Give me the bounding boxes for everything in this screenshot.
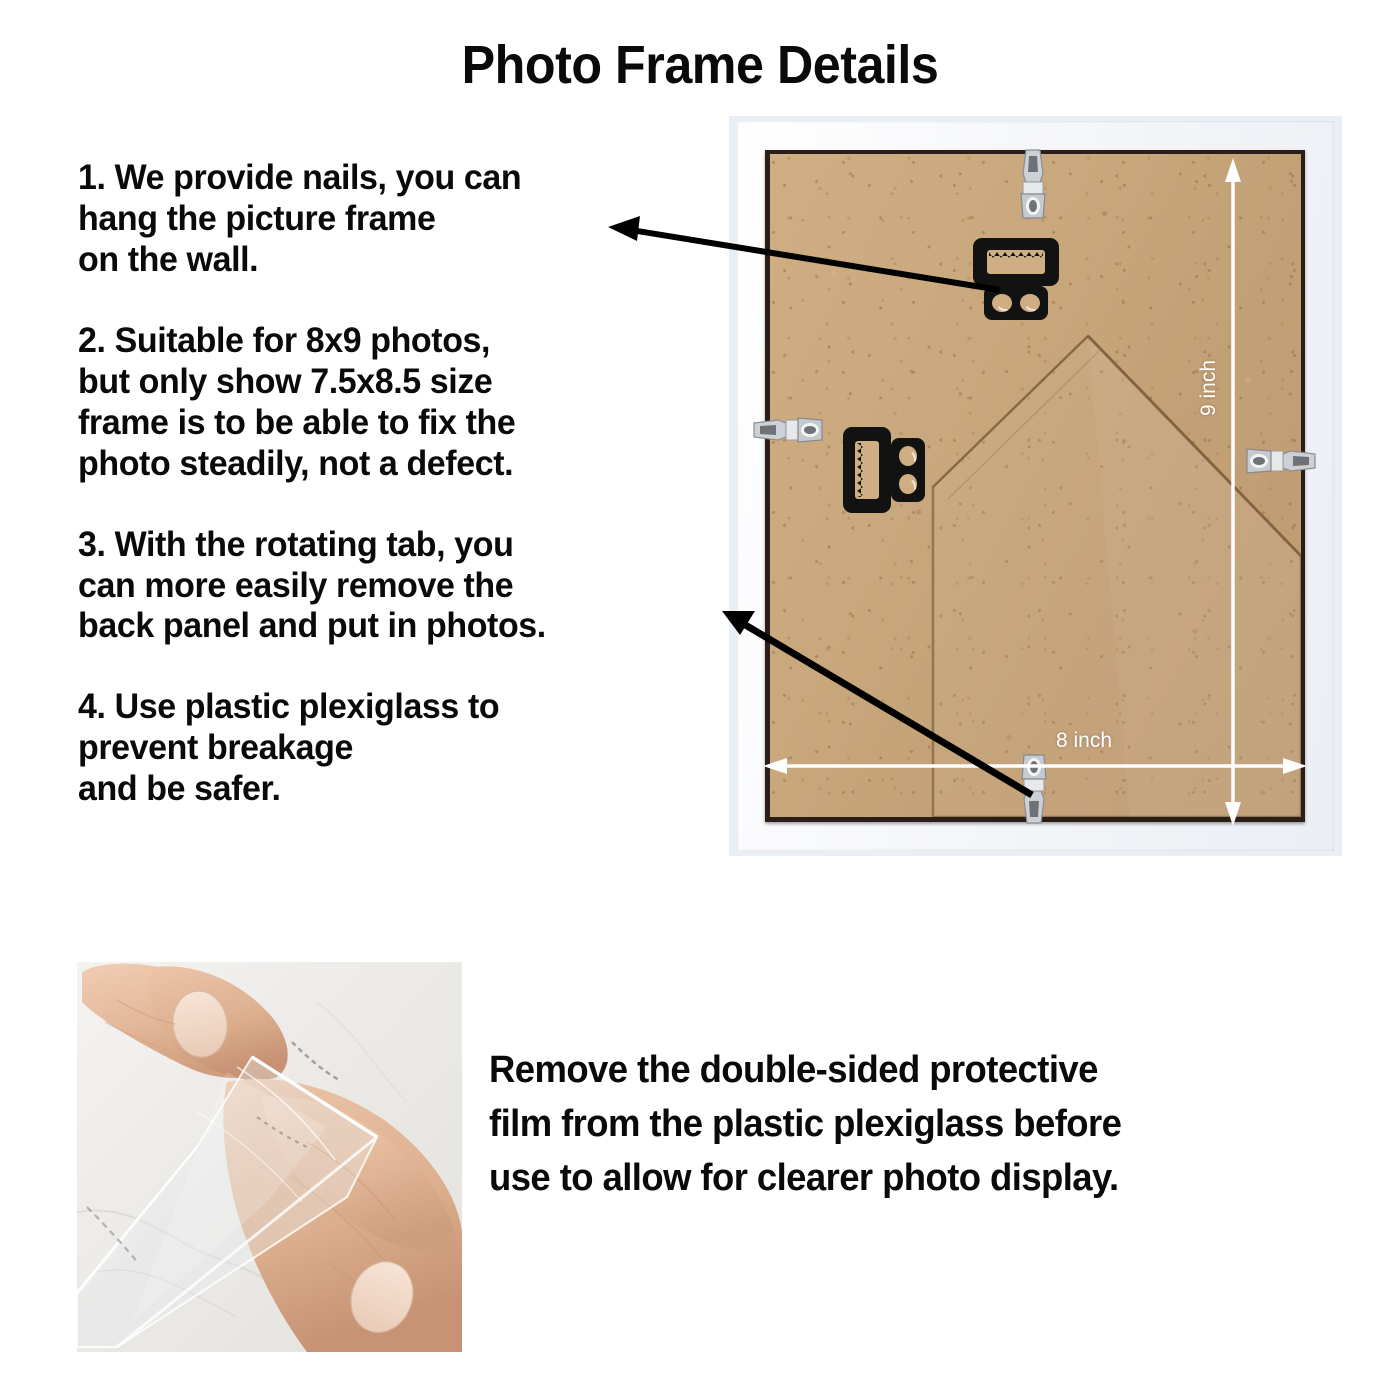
instruction-item-nails-hanging: 1. We provide nails, you can hang the pi… [78, 158, 728, 281]
instruction-line: 3. With the rotating tab, you [78, 525, 709, 566]
instruction-line: prevent breakage [78, 728, 709, 769]
instruction-line: 2. Suitable for 8x9 photos, [78, 321, 709, 362]
dimension-label-width: 8 inch [1056, 729, 1112, 753]
instruction-item-photo-size: 2. Suitable for 8x9 photos, but only sho… [78, 321, 728, 485]
instruction-line: hang the picture frame [78, 199, 709, 240]
instruction-item-rotating-tab: 3. With the rotating tab, you can more e… [78, 525, 728, 648]
instruction-line: can more easily remove the [78, 566, 709, 607]
turn-button-clip-left-icon [752, 413, 826, 447]
dimension-label-height: 9 inch [1197, 360, 1221, 416]
turn-button-clip-bottom-icon [1017, 751, 1051, 825]
instruction-list: 1. We provide nails, you can hang the pi… [78, 158, 728, 850]
page-title: Photo Frame Details [49, 34, 1351, 96]
turn-button-clip-right-icon [1243, 444, 1317, 478]
frame-back-photo: 9 inch 8 inch [729, 116, 1342, 856]
caption-line: use to allow for clearer photo display. [489, 1152, 1286, 1206]
instruction-line: 1. We provide nails, you can [78, 158, 709, 199]
plexiglass-film-photo [77, 962, 462, 1352]
instruction-line: but only show 7.5x8.5 size [78, 362, 709, 403]
instruction-line: photo steadily, not a defect. [78, 444, 709, 485]
turn-button-clip-top-icon [1016, 148, 1050, 222]
instruction-line: and be safer. [78, 769, 709, 810]
caption-line: film from the plastic plexiglass before [489, 1098, 1286, 1152]
rotating-tab-hanger-icon [841, 424, 927, 516]
instruction-line: on the wall. [78, 240, 709, 281]
sawtooth-hanger-icon [970, 236, 1062, 322]
instruction-item-plexiglass: 4. Use plastic plexiglass to prevent bre… [78, 687, 728, 810]
bottom-caption: Remove the double-sided protective film … [489, 1044, 1319, 1206]
instruction-line: frame is to be able to fix the [78, 403, 709, 444]
caption-line: Remove the double-sided protective [489, 1044, 1286, 1098]
instruction-line: back panel and put in photos. [78, 606, 709, 647]
instruction-line: 4. Use plastic plexiglass to [78, 687, 709, 728]
